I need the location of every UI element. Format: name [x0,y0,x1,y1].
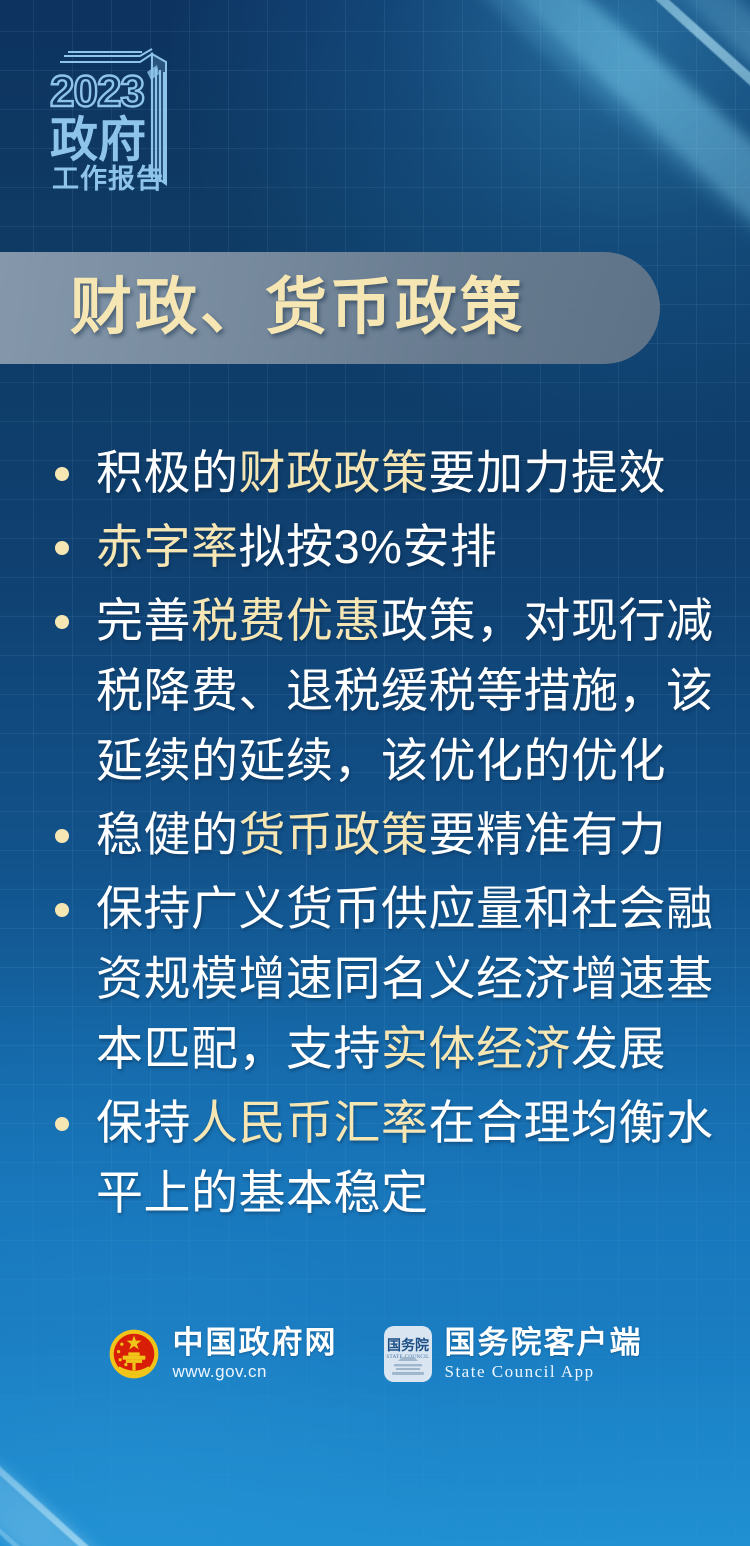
bullet-text: 保持 [96,1096,191,1149]
china-national-emblem-icon [108,1328,160,1380]
brand-name-cn: 国务院客户端 [445,1327,643,1360]
dot-bullet-icon [55,829,69,843]
dot-bullet-icon [55,903,69,917]
bullet-text: 要精准有力 [429,808,667,861]
highlighted-term: 税费优惠 [191,594,381,647]
list-item: 赤字率拟按3%安排 [44,512,716,582]
state-council-app-icon: 国务院 STATE COUNCIL [384,1326,432,1382]
highlighted-term: 货币政策 [239,808,429,861]
bullet-text: 发展 [571,1022,666,1075]
policy-bullet-list: 积极的财政政策要加力提效赤字率拟按3%安排完善税费优惠政策，对现行减税降费、退税… [44,438,716,1232]
list-item: 保持人民币汇率在合理均衡水平上的基本稳定 [44,1088,716,1228]
list-item: 积极的财政政策要加力提效 [44,438,716,508]
brand-name-cn: 中国政府网 [173,1327,338,1360]
highlighted-term: 财政政策 [239,446,429,499]
bullet-text: 拟按3%安排 [239,520,498,573]
svg-text:国务院: 国务院 [387,1337,429,1353]
report-logo: 2023 政府 工作报告 [42,44,192,194]
bullet-text: 完善 [96,594,191,647]
dot-bullet-icon [55,467,69,481]
brand-name-en: State Council App [445,1363,643,1381]
list-item: 完善税费优惠政策，对现行减税降费、退税缓税等措施，该延续的延续，该优化的优化 [44,586,716,796]
brand-url: www.gov.cn [173,1363,338,1381]
title-banner: 财政、货币政策 [0,252,660,364]
list-item: 保持广义货币供应量和社会融资规模增速同名义经济增速基本匹配，支持实体经济发展 [44,874,716,1084]
svg-text:2023: 2023 [50,67,144,116]
highlighted-term: 人民币汇率 [191,1096,429,1149]
brand-china-gov: 中国政府网 www.gov.cn [108,1327,338,1381]
list-item: 稳健的货币政策要精准有力 [44,800,716,870]
bullet-text: 稳健的 [96,808,239,861]
bullet-text: 积极的 [96,446,239,499]
book-icon: 2023 政府 工作报告 [42,44,192,194]
highlighted-term: 赤字率 [96,520,239,573]
background-glow-top-right [170,0,750,440]
bullet-text: 要加力提效 [429,446,667,499]
svg-text:工作报告: 工作报告 [52,164,164,194]
brand-state-council-app: 国务院 STATE COUNCIL 国务院客户端 State Council A… [384,1326,643,1382]
svg-text:政府: 政府 [50,114,146,167]
dot-bullet-icon [55,1117,69,1131]
dot-bullet-icon [55,615,69,629]
footer-brands: 中国政府网 www.gov.cn 国务院 STATE COUNCIL 国务院客户… [0,1326,750,1382]
page-title: 财政、货币政策 [70,277,525,339]
highlighted-term: 实体经济 [381,1022,571,1075]
poster-canvas: 2023 政府 工作报告 财政、货币政策 积极的财政政策要加力提效赤字率拟按3%… [0,0,750,1546]
dot-bullet-icon [55,541,69,555]
